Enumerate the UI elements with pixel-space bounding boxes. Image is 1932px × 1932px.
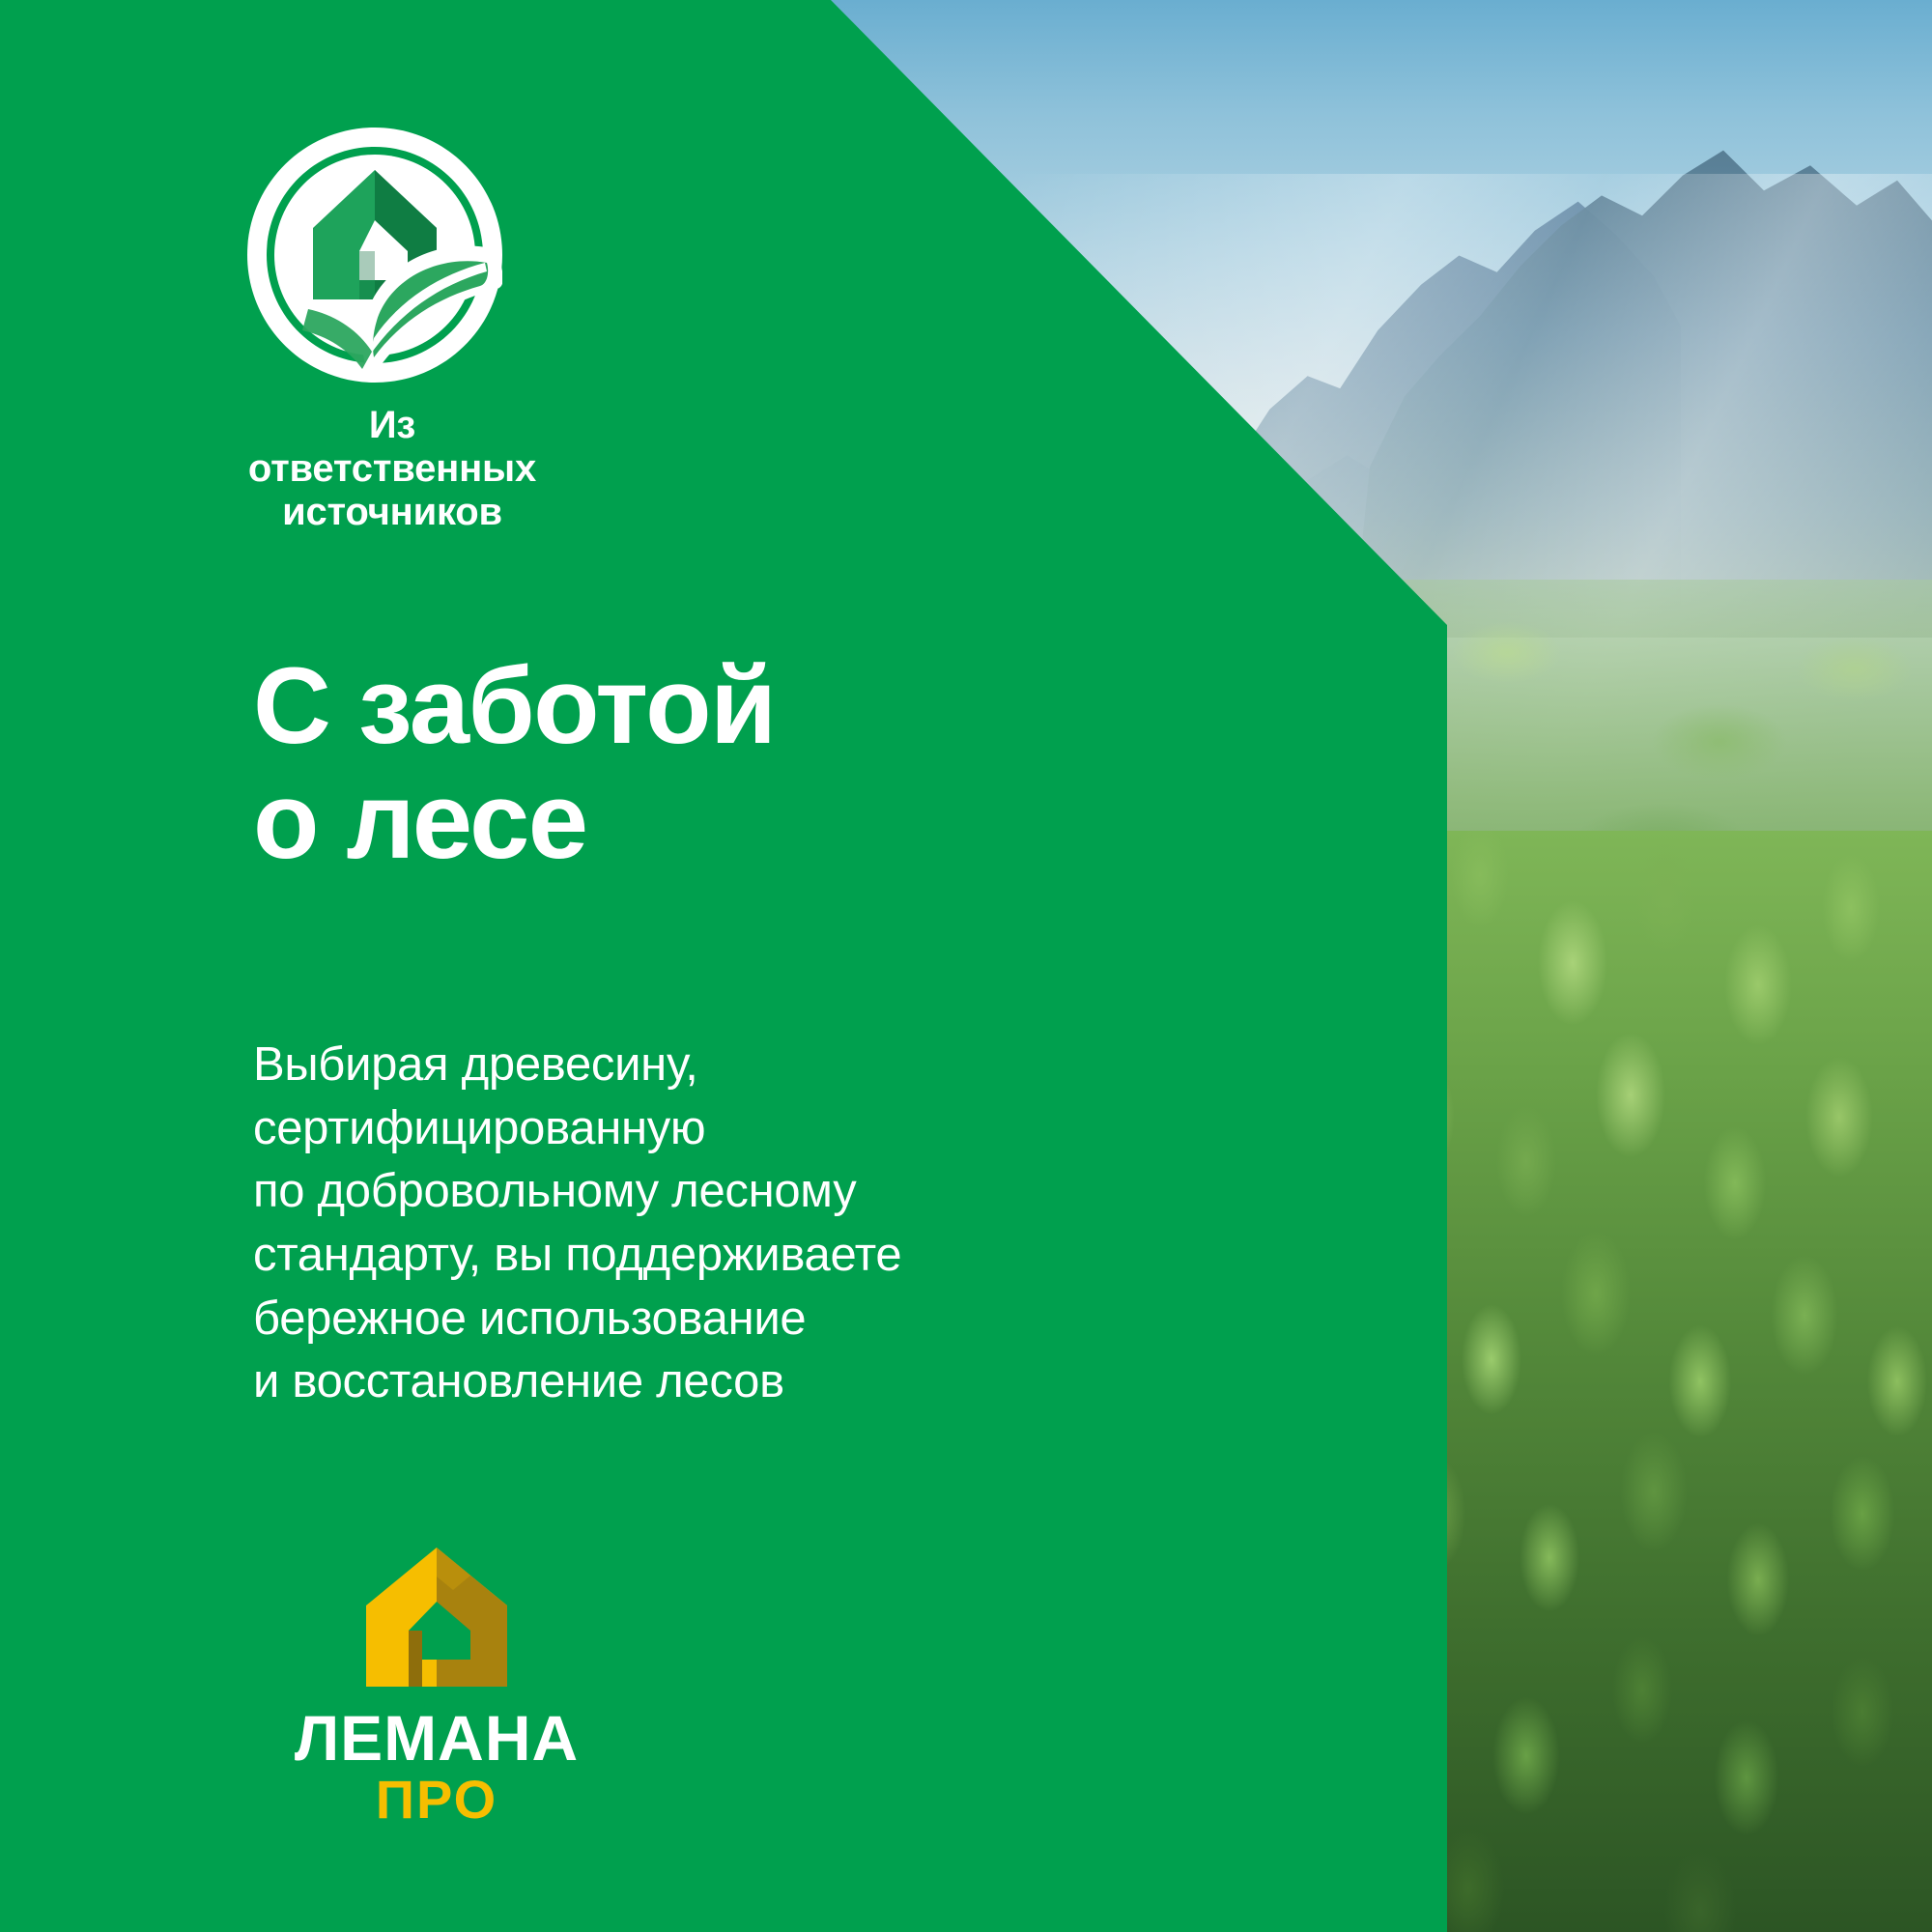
eco-badge: Из ответственных источников bbox=[247, 128, 537, 533]
lemana-pro-logo: ЛЕМАНА ПРО ЛЕМАНА ПРО bbox=[263, 1546, 611, 1822]
poster-content: Из ответственных источников С заботой о … bbox=[0, 0, 1932, 1932]
page-title: С заботой о лесе bbox=[253, 649, 775, 878]
poster-canvas: Aerial forest landscape with hazy blue m… bbox=[0, 0, 1932, 1932]
svg-text:ПРО: ПРО bbox=[376, 1769, 497, 1822]
eco-badge-caption: Из ответственных источников bbox=[247, 404, 537, 533]
brand-name-top: ЛЕМАНА bbox=[437, 1822, 438, 1823]
brand-name-bottom: ПРО bbox=[437, 1822, 438, 1823]
lemana-house-icon bbox=[364, 1546, 509, 1689]
lemana-pro-wordmark: ЛЕМАНА ПРО bbox=[272, 1700, 601, 1822]
svg-text:ЛЕМАНА: ЛЕМАНА bbox=[295, 1702, 579, 1774]
house-leaf-circle-emblem-icon bbox=[247, 128, 502, 383]
body-paragraph: Выбирая древесину, сертифицированную по … bbox=[253, 1034, 901, 1414]
